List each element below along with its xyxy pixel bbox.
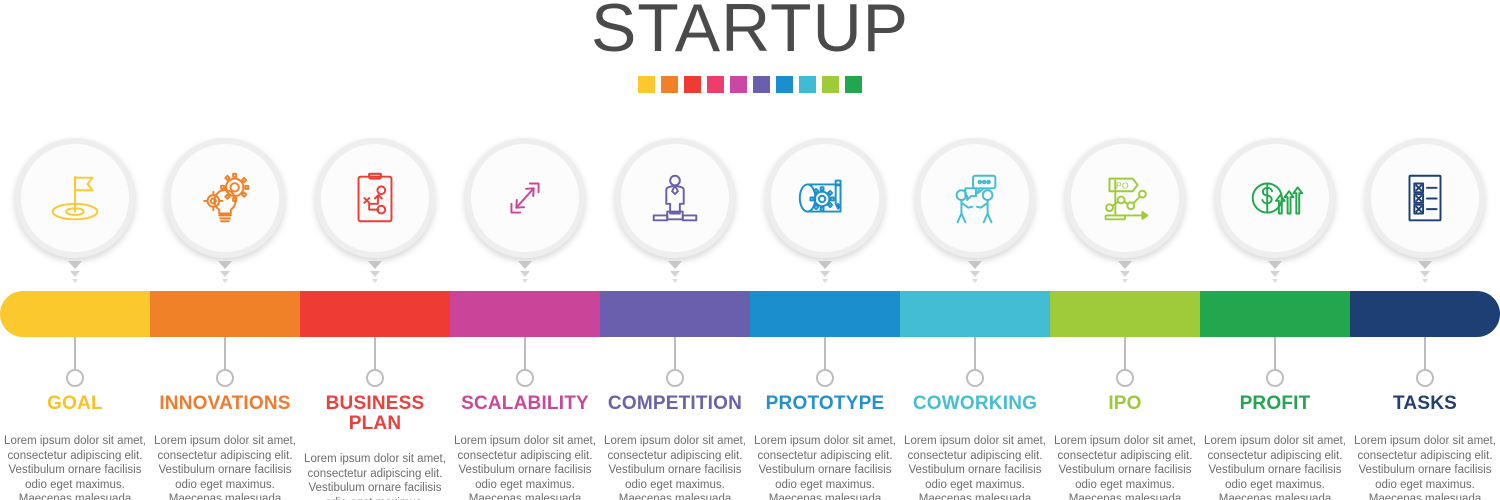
step-icon-circle[interactable]: [465, 138, 585, 258]
step-icon-circle[interactable]: [1365, 138, 1485, 258]
step-icon-circle[interactable]: [15, 138, 135, 258]
step-column[interactable]: IPOIPOLorem ipsum dolor sit amet, consec…: [1050, 0, 1200, 500]
step-heading: PROTOTYPE: [750, 394, 900, 414]
step-heading: INNOVATIONS: [150, 394, 300, 414]
step-heading: TASKS: [1350, 394, 1500, 414]
blueprint-gear-pencil-icon: [765, 138, 885, 258]
flag-goal-icon: [15, 138, 135, 258]
connector-stem: [674, 337, 676, 370]
resize-arrow-icon: [465, 138, 585, 258]
step-description: Lorem ipsum dolor sit amet, consectetur …: [598, 434, 752, 500]
svg-text:IPO: IPO: [1114, 180, 1129, 190]
connector-stem: [1124, 337, 1126, 370]
step-description: Lorem ipsum dolor sit amet, consectetur …: [1198, 434, 1352, 500]
step-heading: SCALABILITY: [450, 394, 600, 414]
connector-arrows-down-icon: [150, 261, 300, 283]
connector-arrows-down-icon: [0, 261, 150, 283]
connector-stem: [1274, 337, 1276, 370]
step-icon-circle[interactable]: [615, 138, 735, 258]
connector-stem: [74, 337, 76, 370]
lightbulb-gears-icon: [165, 138, 285, 258]
connector-arrows-down-icon: [600, 261, 750, 283]
checklist-icon: [1365, 138, 1485, 258]
step-column[interactable]: BUSINESSPLANLorem ipsum dolor sit amet, …: [300, 0, 450, 500]
infographic-canvas: STARTUP GOALLorem ipsum dolor sit amet, …: [0, 0, 1500, 500]
connector-arrows-down-icon: [1200, 261, 1350, 283]
step-heading: BUSINESSPLAN: [300, 394, 450, 434]
connector-arrows-down-icon: [1050, 261, 1200, 283]
step-icon-circle[interactable]: [315, 138, 435, 258]
step-icon-circle[interactable]: IPO: [1065, 138, 1185, 258]
connector-ring-icon: [66, 369, 84, 387]
step-column[interactable]: PROTOTYPELorem ipsum dolor sit amet, con…: [750, 0, 900, 500]
connector-ring-icon: [966, 369, 984, 387]
step-icon-circle[interactable]: [765, 138, 885, 258]
connector-stem: [524, 337, 526, 370]
connector-arrows-down-icon: [450, 261, 600, 283]
step-icon-circle[interactable]: [1215, 138, 1335, 258]
dollar-growth-icon: [1215, 138, 1335, 258]
connector-stem: [224, 337, 226, 370]
connector-ring-icon: [516, 369, 534, 387]
connector-arrows-down-icon: [750, 261, 900, 283]
step-heading: PROFIT: [1200, 394, 1350, 414]
two-people-chat-icon: [915, 138, 1035, 258]
connector-ring-icon: [666, 369, 684, 387]
connector-ring-icon: [816, 369, 834, 387]
connector-ring-icon: [1416, 369, 1434, 387]
step-column[interactable]: INNOVATIONSLorem ipsum dolor sit amet, c…: [150, 0, 300, 500]
step-description: Lorem ipsum dolor sit amet, consectetur …: [1048, 434, 1202, 500]
step-heading: COMPETITION: [600, 394, 750, 414]
connector-ring-icon: [1116, 369, 1134, 387]
step-icon-circle[interactable]: [915, 138, 1035, 258]
connector-ring-icon: [216, 369, 234, 387]
connector-ring-icon: [366, 369, 384, 387]
step-column[interactable]: GOALLorem ipsum dolor sit amet, consecte…: [0, 0, 150, 500]
step-column[interactable]: SCALABILITYLorem ipsum dolor sit amet, c…: [450, 0, 600, 500]
step-description: Lorem ipsum dolor sit amet, consectetur …: [298, 452, 452, 500]
step-column[interactable]: COMPETITIONLorem ipsum dolor sit amet, c…: [600, 0, 750, 500]
step-heading: IPO: [1050, 394, 1200, 414]
step-icon-circle[interactable]: [165, 138, 285, 258]
connector-stem: [1424, 337, 1426, 370]
ipo-signpost-chart-icon: IPO: [1065, 138, 1185, 258]
step-description: Lorem ipsum dolor sit amet, consectetur …: [1348, 434, 1500, 500]
connector-arrows-down-icon: [900, 261, 1050, 283]
step-description: Lorem ipsum dolor sit amet, consectetur …: [898, 434, 1052, 500]
connector-arrows-down-icon: [1350, 261, 1500, 283]
connector-stem: [974, 337, 976, 370]
connector-ring-icon: [1266, 369, 1284, 387]
step-description: Lorem ipsum dolor sit amet, consectetur …: [748, 434, 902, 500]
step-heading: GOAL: [0, 394, 150, 414]
podium-person-icon: [615, 138, 735, 258]
step-description: Lorem ipsum dolor sit amet, consectetur …: [148, 434, 302, 500]
step-column[interactable]: PROFITLorem ipsum dolor sit amet, consec…: [1200, 0, 1350, 500]
connector-stem: [824, 337, 826, 370]
step-column[interactable]: TASKSLorem ipsum dolor sit amet, consect…: [1350, 0, 1500, 500]
step-description: Lorem ipsum dolor sit amet, consectetur …: [448, 434, 602, 500]
step-description: Lorem ipsum dolor sit amet, consectetur …: [0, 434, 152, 500]
step-column[interactable]: COWORKINGLorem ipsum dolor sit amet, con…: [900, 0, 1050, 500]
connector-stem: [374, 337, 376, 370]
step-heading: COWORKING: [900, 394, 1050, 414]
connector-arrows-down-icon: [300, 261, 450, 283]
clipboard-strategy-icon: [315, 138, 435, 258]
